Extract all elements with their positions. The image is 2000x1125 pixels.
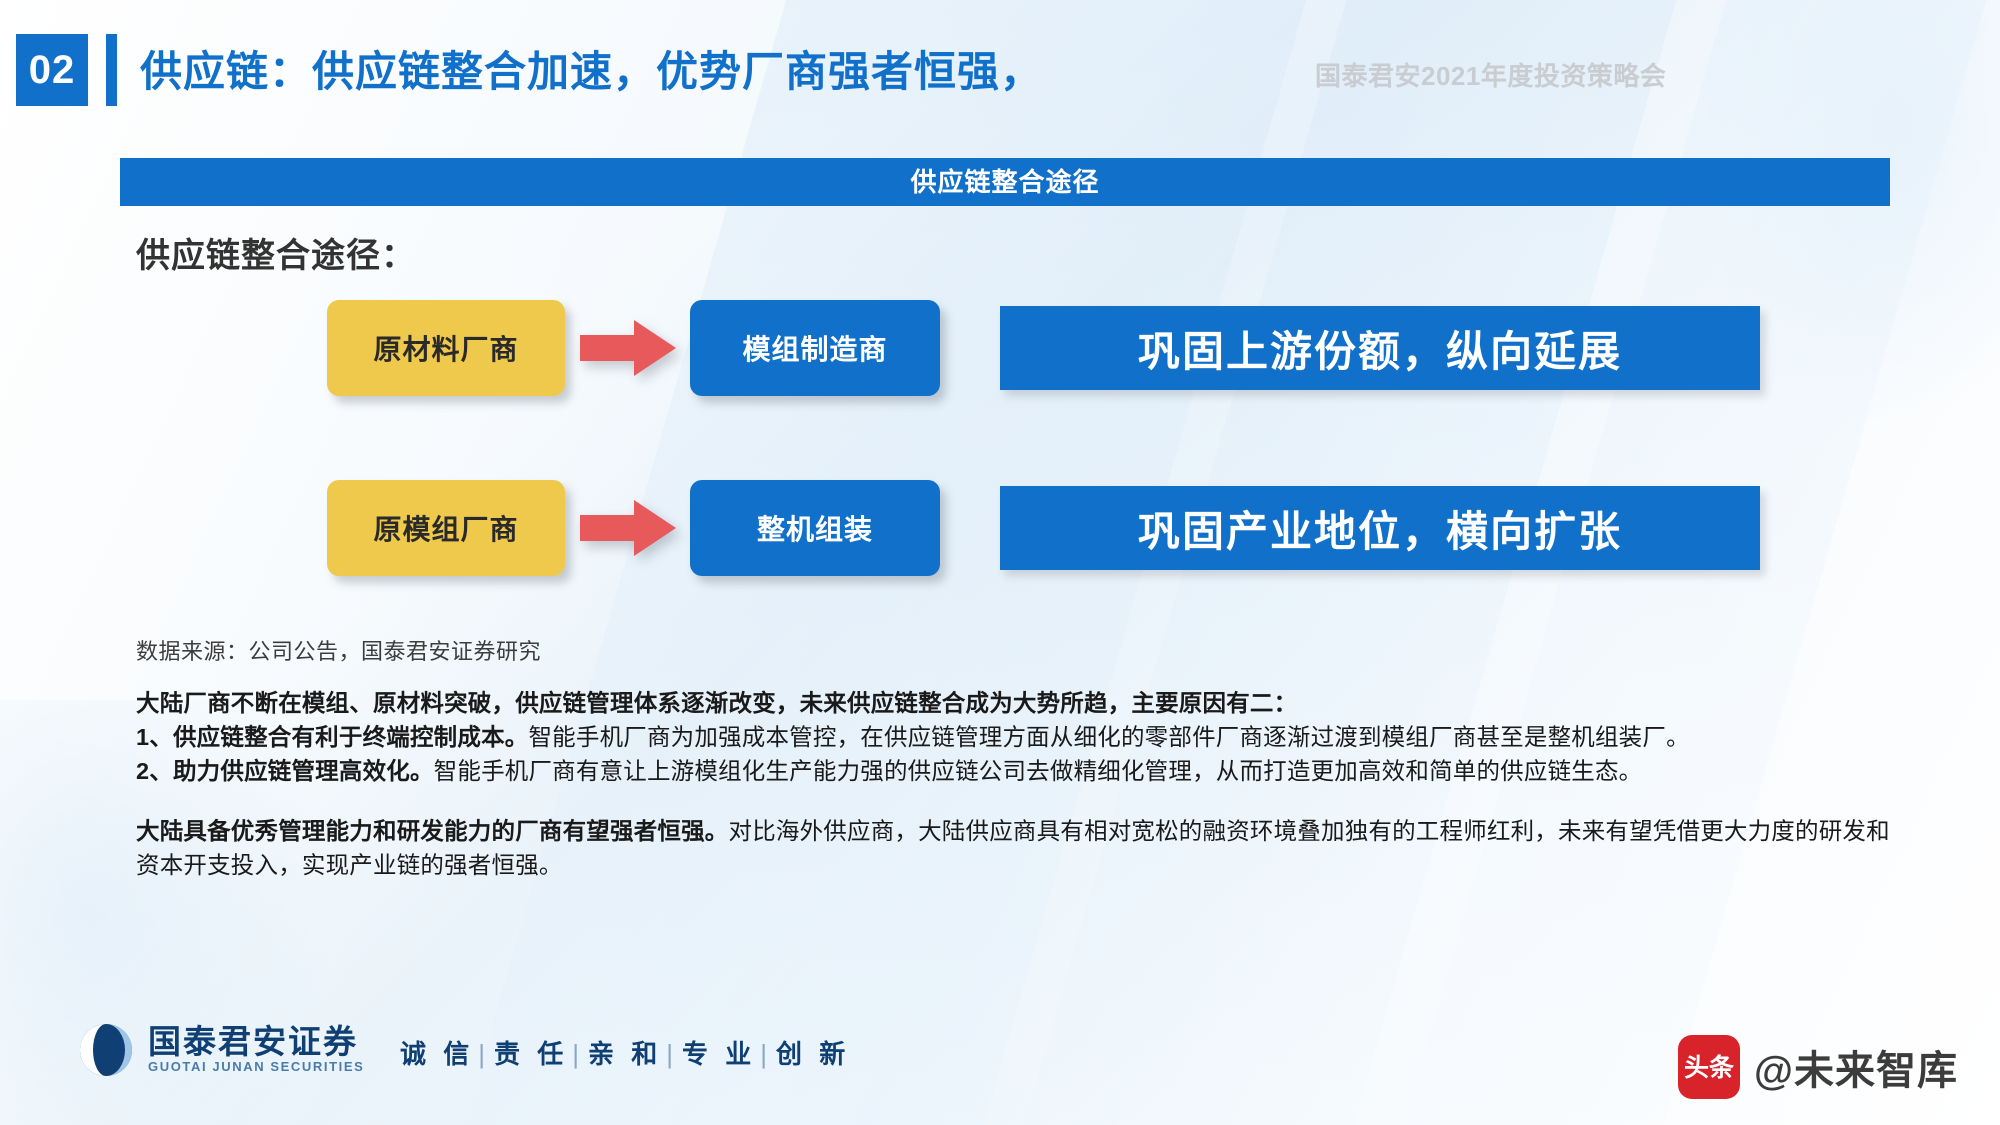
right-arrow-icon (580, 498, 676, 558)
flow-target-node: 模组制造商 (690, 300, 940, 396)
flow-row: 原材料厂商 模组制造商 巩固上游份额，纵向延展 (0, 300, 2000, 396)
logo-name-cn: 国泰君安证券 (148, 1025, 364, 1059)
value-separator: | (474, 1039, 494, 1069)
body-paragraph-1: 大陆厂商不断在模组、原材料突破，供应链管理体系逐渐改变，未来供应链整合成为大势所… (136, 686, 1896, 720)
flow-claim-banner: 巩固产业地位，横向扩张 (1000, 486, 1760, 570)
conference-label: 国泰君安2021年度投资策略会 (1315, 56, 1666, 93)
right-arrow-icon (580, 318, 676, 378)
logo-wordmark: 国泰君安证券 GUOTAI JUNAN SECURITIES (148, 1025, 364, 1075)
value-item: 责 任 (494, 1039, 568, 1069)
slide-canvas: 02 供应链：供应链整合加速，优势厂商强者恒强， 国泰君安2021年度投资策略会… (0, 0, 2000, 1125)
body-paragraph-4: 大陆具备优秀管理能力和研发能力的厂商有望强者恒强。对比海外供应商，大陆供应商具有… (136, 814, 1896, 882)
body-paragraph-2: 1、供应链整合有利于终端控制成本。智能手机厂商为加强成本管控，在供应链管理方面从… (136, 720, 1896, 754)
paragraph-2-body: 智能手机厂商为加强成本管控，在供应链管理方面从细化的零部件厂商逐渐过渡到模组厂商… (528, 724, 1689, 750)
paragraph-3-body: 智能手机厂商有意让上游模组化生产能力强的供应链公司去做精细化管理，从而打造更加高… (434, 758, 1643, 784)
flow-row: 原模组厂商 整机组装 巩固产业地位，横向扩张 (0, 480, 2000, 576)
sub-heading: 供应链整合途径： (136, 228, 416, 277)
title-accent-bar (106, 34, 117, 106)
source-note: 数据来源：公司公告，国泰君安证券研究 (136, 634, 541, 666)
company-logo: 国泰君安证券 GUOTAI JUNAN SECURITIES (78, 1022, 364, 1078)
value-separator: | (756, 1039, 776, 1069)
value-item: 诚 信 (400, 1039, 474, 1069)
body-paragraph-3: 2、助力供应链管理高效化。智能手机厂商有意让上游模组化生产能力强的供应链公司去做… (136, 754, 1896, 788)
paragraph-2-lead: 1、供应链整合有利于终端控制成本。 (136, 724, 528, 750)
value-item: 创 新 (776, 1039, 850, 1069)
watermark: 头条 @未来智库 (1678, 1035, 1958, 1099)
value-separator: | (568, 1039, 588, 1069)
flow-source-node: 原材料厂商 (327, 300, 565, 396)
section-number-badge: 02 (16, 34, 88, 106)
value-separator: | (662, 1039, 682, 1069)
body-text: 大陆厂商不断在模组、原材料突破，供应链管理体系逐渐改变，未来供应链整合成为大势所… (136, 686, 1896, 882)
paragraph-3-lead: 2、助力供应链管理高效化。 (136, 758, 434, 784)
slide-header: 02 供应链：供应链整合加速，优势厂商强者恒强， 国泰君安2021年度投资策略会 (0, 34, 2000, 108)
guotai-junan-logo-icon (78, 1022, 134, 1078)
corporate-values: 诚 信|责 任|亲 和|专 业|创 新 (400, 1034, 850, 1071)
value-item: 专 业 (682, 1039, 756, 1069)
paragraph-4-lead: 大陆具备优秀管理能力和研发能力的厂商有望强者恒强。 (136, 818, 729, 844)
toutiao-badge-icon: 头条 (1678, 1035, 1740, 1099)
flow-source-node: 原模组厂商 (327, 480, 565, 576)
section-banner: 供应链整合途径 (120, 158, 1890, 206)
paragraph-1-lead: 大陆厂商不断在模组、原材料突破，供应链管理体系逐渐改变，未来供应链整合成为大势所… (136, 690, 1297, 716)
watermark-handle: @未来智库 (1754, 1038, 1958, 1096)
watermark-badge-text: 头条 (1684, 1053, 1734, 1083)
paragraph-spacer (136, 788, 1896, 814)
flow-claim-banner: 巩固上游份额，纵向延展 (1000, 306, 1760, 390)
page-title: 供应链：供应链整合加速，优势厂商强者恒强， (140, 38, 1043, 99)
supply-chain-diagram: 原材料厂商 模组制造商 巩固上游份额，纵向延展 原模组厂商 整机组装 巩固产业地… (0, 290, 2000, 590)
flow-target-node: 整机组装 (690, 480, 940, 576)
logo-name-en: GUOTAI JUNAN SECURITIES (148, 1059, 364, 1075)
value-item: 亲 和 (588, 1039, 662, 1069)
